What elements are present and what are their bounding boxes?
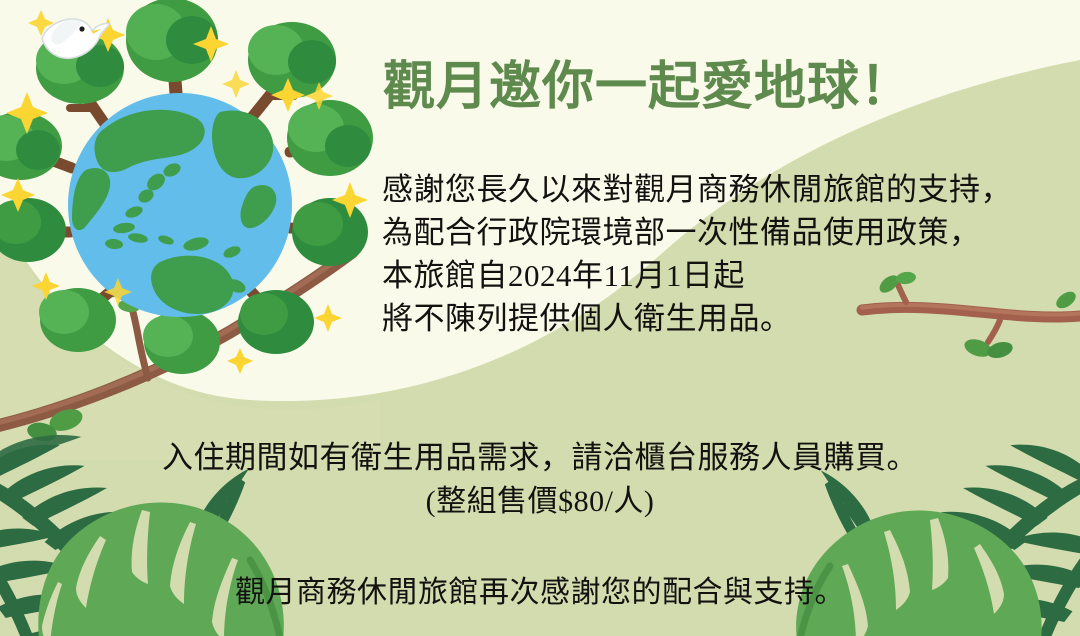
body-paragraph: 感謝您長久以來對觀月商務休閒旅館的支持， 為配合行政院環境部一次性備品使用政策，… — [382, 168, 1022, 340]
closing-line: 觀月商務休閒旅館再次感謝您的配合與支持。 — [0, 573, 1080, 613]
purchase-notice: 入住期間如有衛生用品需求，請洽櫃台服務人員購買。 (整組售價$80/人) — [0, 436, 1080, 524]
page-title: 觀月邀你一起愛地球！ — [383, 58, 1023, 118]
body-line-3: 本旅館自2024年11月1日起 — [382, 254, 1022, 297]
price-line: (整組售價$80/人) — [0, 480, 1080, 524]
body-line-2: 為配合行政院環境部一次性備品使用政策， — [382, 211, 1022, 254]
eco-notice-poster: 觀月邀你一起愛地球！ 感謝您長久以來對觀月商務休閒旅館的支持， 為配合行政院環境… — [0, 0, 1080, 636]
body-line-4: 將不陳列提供個人衛生用品。 — [382, 297, 1022, 340]
body-line-1: 感謝您長久以來對觀月商務休閒旅館的支持， — [382, 168, 1022, 211]
notice-line: 入住期間如有衛生用品需求，請洽櫃台服務人員購買。 — [0, 436, 1080, 480]
